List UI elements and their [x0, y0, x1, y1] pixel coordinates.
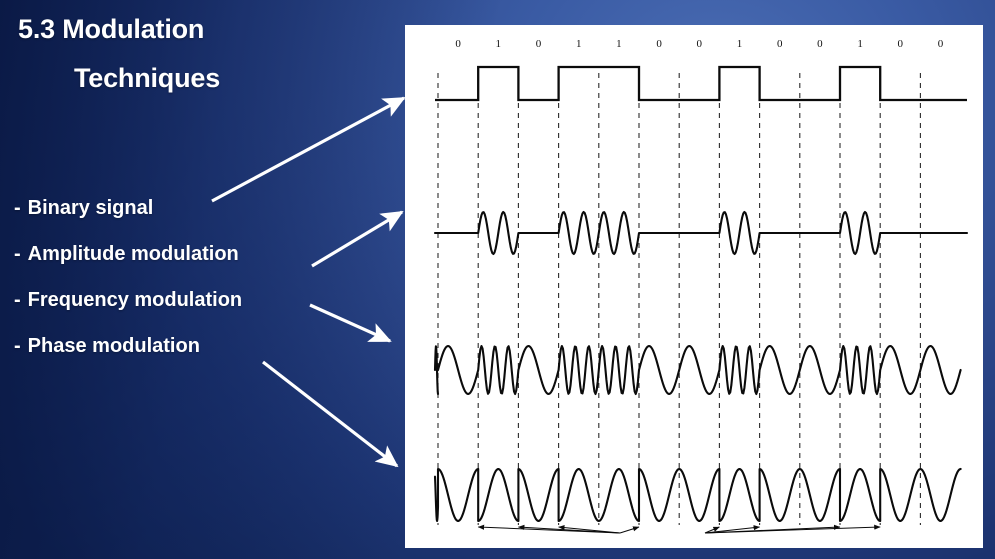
bullet-item-phase-modulation: -Phase modulation [14, 336, 394, 356]
bit-label: 0 [697, 38, 703, 50]
bullet-label: Phase modulation [28, 335, 200, 357]
bit-label: 1 [576, 38, 582, 50]
binary-signal-waveform [435, 67, 967, 100]
phase-change-leader [620, 527, 639, 533]
waveform-path [435, 212, 967, 254]
phase-modulation-waveform [435, 469, 961, 521]
slide-canvas: 5.3 Modulation Techniques -Binary signal… [0, 0, 995, 559]
bullet-dash: - [14, 198, 21, 218]
bit-label: 0 [656, 38, 662, 50]
frequency-modulation-waveform [435, 346, 961, 394]
bit-label: 0 [898, 38, 904, 50]
bit-label-row: 0101100100100 [455, 38, 943, 50]
bullet-dash: - [14, 290, 21, 310]
waveform-path [435, 469, 961, 521]
bit-boundary-gridlines [438, 73, 920, 525]
bullet-label: Amplitude modulation [28, 243, 239, 265]
bit-label: 1 [857, 38, 863, 50]
bullet-item-amplitude-modulation: -Amplitude modulation [14, 244, 394, 264]
bullet-label: Frequency modulation [28, 289, 242, 311]
bit-label: 0 [536, 38, 542, 50]
bit-label: 1 [616, 38, 622, 50]
modulation-figure-panel: 0101100100100 Phase changes [405, 25, 983, 548]
phase-change-leader-lines [478, 527, 880, 533]
bit-label: 0 [455, 38, 461, 50]
bit-label: 0 [817, 38, 823, 50]
bullet-dash: - [14, 244, 21, 264]
bullet-item-frequency-modulation: -Frequency modulation [14, 290, 394, 310]
arrow-to-binary-signal [212, 98, 404, 201]
bullet-dash: - [14, 336, 21, 356]
page-title: 5.3 Modulation Techniques [18, 16, 388, 92]
amplitude-modulation-waveform [435, 212, 967, 254]
waveform-path [438, 346, 961, 394]
bullet-list: -Binary signal -Amplitude modulation -Fr… [14, 198, 394, 382]
bit-label: 0 [777, 38, 783, 50]
bullet-item-binary-signal: -Binary signal [14, 198, 394, 218]
bit-label: 1 [496, 38, 502, 50]
bit-label: 0 [938, 38, 944, 50]
bit-label: 1 [737, 38, 743, 50]
title-line-1: 5.3 Modulation [18, 16, 388, 43]
waveform-path [435, 67, 967, 100]
bullet-label: Binary signal [28, 197, 154, 219]
title-line-2: Techniques [74, 65, 388, 92]
modulation-figure-svg: 0101100100100 Phase changes [405, 25, 983, 548]
